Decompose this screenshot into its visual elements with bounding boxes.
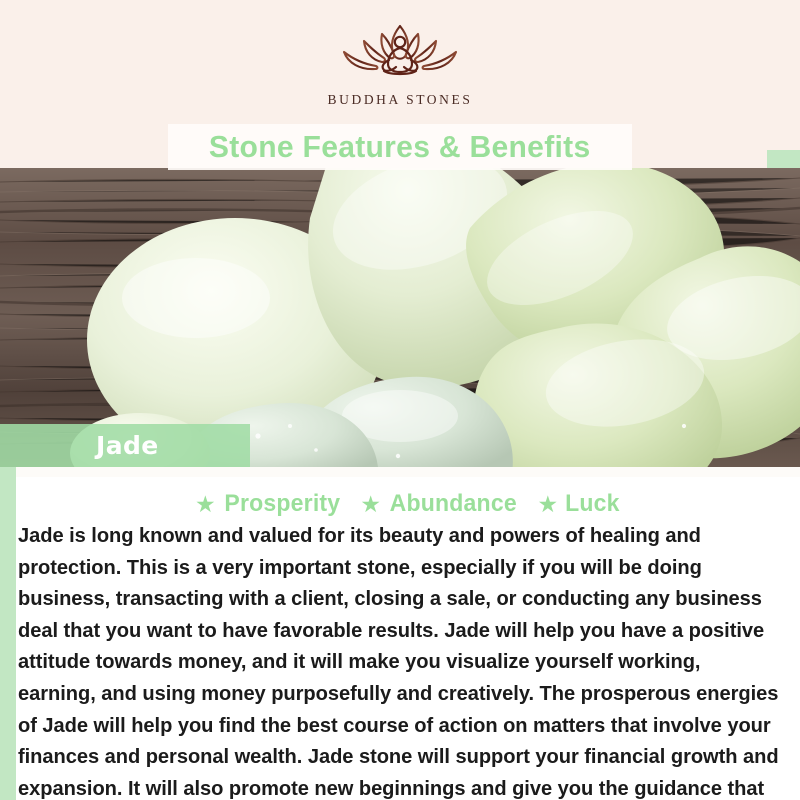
stone-photo: [0, 168, 800, 467]
stone-name: Jade: [96, 431, 159, 460]
benefit-label: Luck: [565, 490, 620, 518]
benefit-label: Abundance: [390, 490, 517, 518]
stone-description: Jade is long known and valued for its be…: [18, 521, 782, 800]
benefit-item: ★ Luck: [538, 490, 621, 518]
stone-name-tag: Jade: [0, 424, 250, 467]
decor-band-left-lower: [0, 473, 16, 800]
benefit-label: Prosperity: [224, 490, 340, 518]
page-title: Stone Features & Benefits: [209, 129, 591, 165]
infographic-page: BUDDHA STONES: [0, 0, 800, 800]
star-icon: ★: [538, 493, 559, 516]
benefit-item: ★ Abundance: [360, 490, 519, 518]
benefits-row: ★ Prosperity ★ Abundance ★ Luck: [16, 487, 800, 521]
page-title-banner: Stone Features & Benefits: [168, 124, 632, 170]
lotus-meditation-logo-icon: [320, 22, 480, 88]
star-icon: ★: [195, 493, 216, 516]
brand-name: BUDDHA STONES: [328, 92, 473, 108]
jade-stones-illustration: [0, 168, 800, 467]
content-panel: ★ Prosperity ★ Abundance ★ Luck Jade is …: [16, 467, 800, 800]
star-icon: ★: [360, 493, 381, 516]
brand-logo: BUDDHA STONES: [0, 22, 800, 122]
benefit-item: ★ Prosperity: [195, 490, 342, 518]
content-inner: ★ Prosperity ★ Abundance ★ Luck Jade is …: [16, 477, 800, 800]
